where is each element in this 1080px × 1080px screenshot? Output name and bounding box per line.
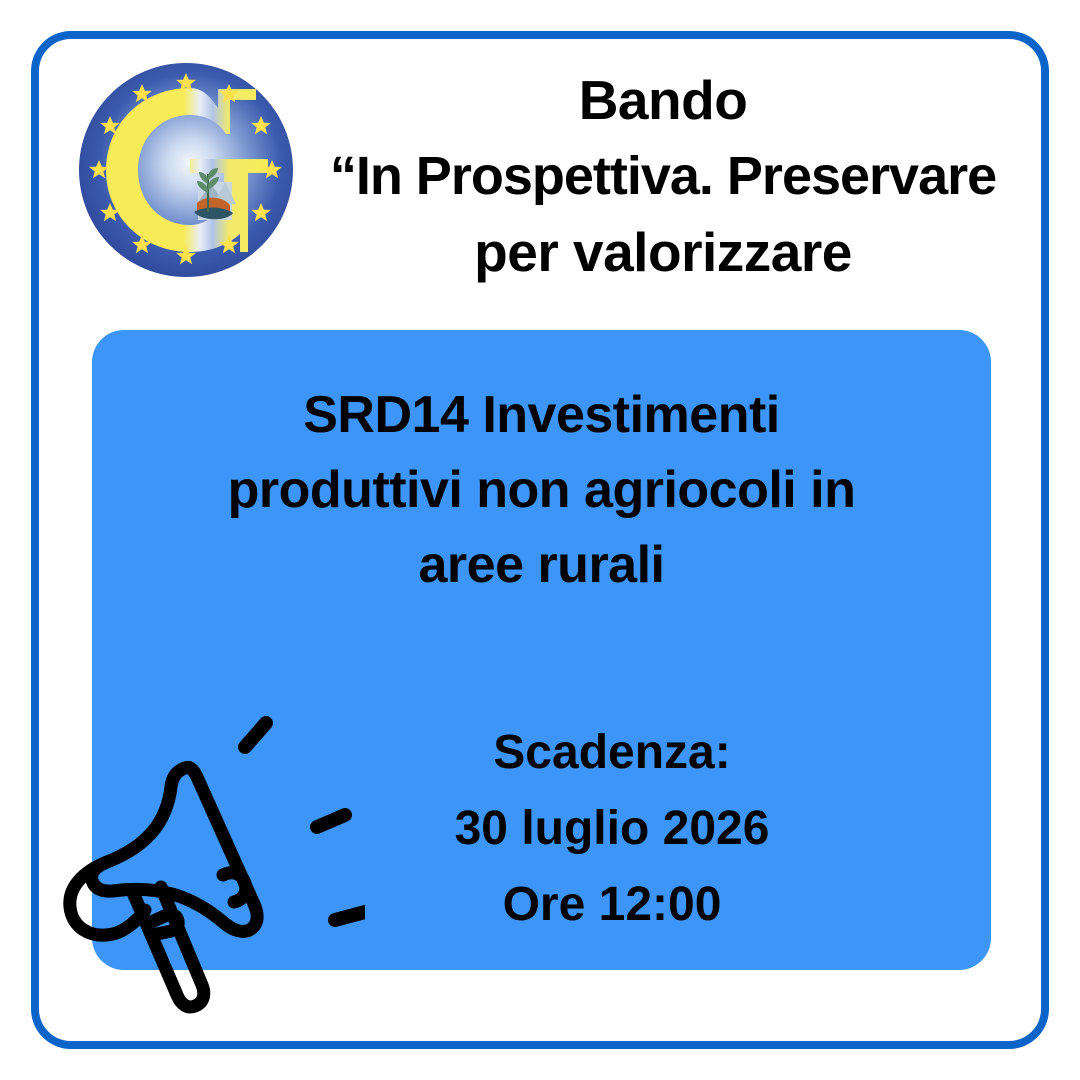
deadline-block: Scadenza: 30 luglio 2026 Ore 12:00 <box>332 715 892 943</box>
title-line-2: “In Prospettiva. Preservare <box>290 138 1036 214</box>
title-line-3: per valorizzare <box>290 214 1036 290</box>
measure-heading-line-1: SRD14 Investimenti <box>162 378 921 453</box>
measure-heading: SRD14 Investimenti produttivi non agrioc… <box>162 378 921 603</box>
title-line-1: Bando <box>290 62 1036 138</box>
deadline-label: Scadenza: <box>332 715 892 791</box>
announcement-card: SRD14 Investimenti produttivi non agrioc… <box>92 330 991 970</box>
poster-header: Bando “In Prospettiva. Preservare per va… <box>40 40 1040 320</box>
deadline-date-text: 30 luglio 2026 <box>332 791 892 867</box>
measure-heading-line-3: aree rurali <box>162 528 921 603</box>
gal-emblem-logo <box>78 62 294 278</box>
page-title: Bando “In Prospettiva. Preservare per va… <box>290 62 1036 290</box>
deadline-time-text: Ore 12:00 <box>332 867 892 943</box>
poster-canvas: Bando “In Prospettiva. Preservare per va… <box>0 0 1080 1080</box>
measure-heading-line-2: produttivi non agriocoli in <box>162 453 921 528</box>
